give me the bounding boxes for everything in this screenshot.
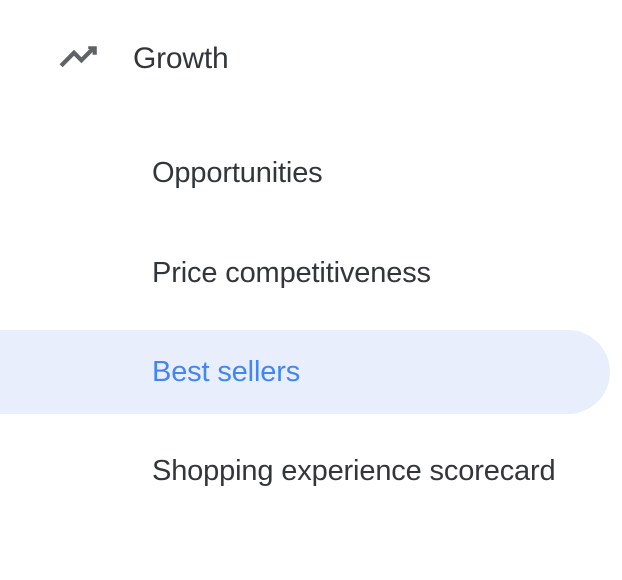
menu-item-label: Best sellers <box>152 347 586 397</box>
trending-up-icon <box>55 44 99 74</box>
menu-item-label: Price competitiveness <box>152 248 586 298</box>
menu-item-best-sellers[interactable]: Best sellers <box>0 330 610 414</box>
section-title: Growth <box>133 30 229 88</box>
menu-item-opportunities[interactable]: Opportunities <box>0 148 610 200</box>
growth-navigation-panel: Growth Opportunities Price competitivene… <box>0 0 622 580</box>
menu-item-label: Opportunities <box>152 148 586 198</box>
menu-item-label: Shopping experience scorecard <box>152 446 586 496</box>
menu-item-price-competitiveness[interactable]: Price competitiveness <box>0 248 610 300</box>
menu-item-shopping-experience-scorecard[interactable]: Shopping experience scorecard <box>0 446 610 550</box>
section-header-growth[interactable]: Growth <box>0 30 622 88</box>
